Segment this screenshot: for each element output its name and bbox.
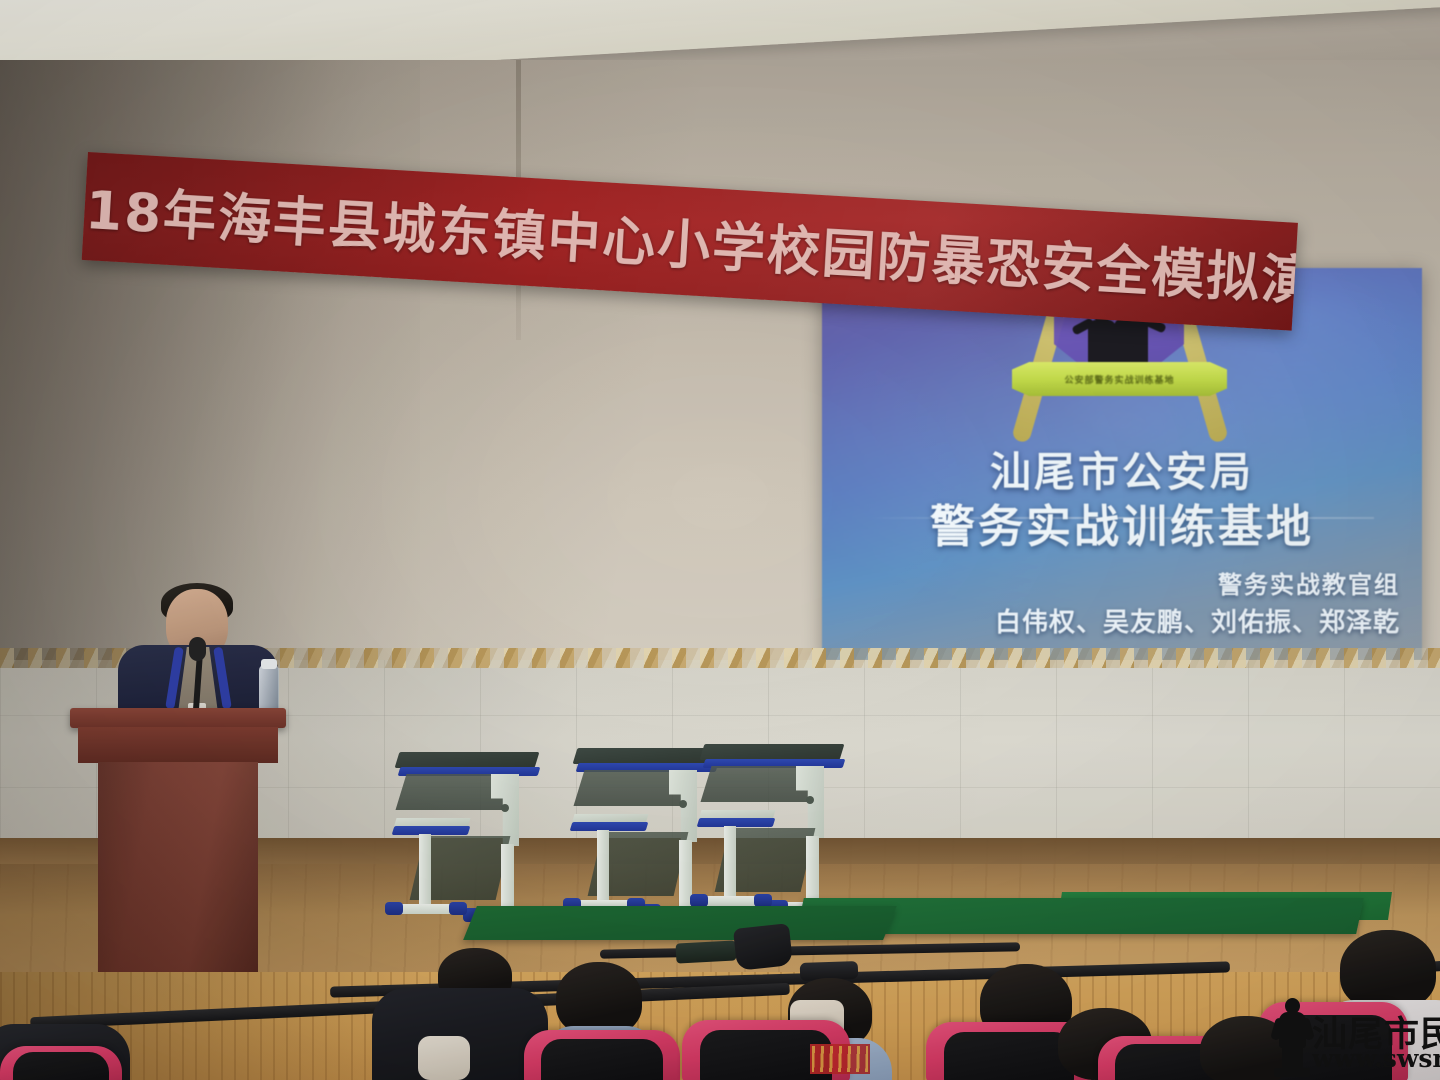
podium-shelf <box>78 727 278 763</box>
desk-knob <box>806 796 814 804</box>
chair-seat-trim <box>392 826 471 835</box>
chair-leg <box>419 834 431 908</box>
desk-top <box>700 744 845 760</box>
seat-cushion <box>541 1039 663 1080</box>
photo-canvas: ★ ★ ★ ★ ★ 公安部警务实战训练基地 汕尾市公安局 警务实战训练基地 警 <box>0 0 1440 1080</box>
site-watermark: 汕尾市民网 www.swsm.net <box>1268 992 1436 1078</box>
slide-subtitle-names: 白伟权、吴友鹏、刘佑振、郑泽乾 <box>995 602 1400 639</box>
slide-title-primary: 汕尾市公安局 <box>822 438 1422 498</box>
equipment-clamp <box>676 940 737 963</box>
chair-leg <box>597 830 609 904</box>
water-bottle-cap <box>261 659 277 669</box>
desk-leg <box>806 836 819 904</box>
training-mat <box>463 906 897 940</box>
microphone-icon <box>189 637 206 661</box>
chair-seat-trim <box>570 822 649 831</box>
watermark-site-url: www.swsm.net <box>1312 1044 1440 1073</box>
chair-foot-cap <box>385 902 403 915</box>
chair-foot-cap <box>449 902 467 915</box>
emblem-ribbon: 公安部警务实战训练基地 <box>1012 362 1227 396</box>
standing-person-silhouette-icon <box>1274 998 1310 1076</box>
chair-leg <box>724 826 736 900</box>
desk-top <box>395 752 540 768</box>
chair-seat-trim <box>697 818 776 827</box>
seat-flag-stripes <box>812 1046 868 1072</box>
tripod-head-icon <box>733 923 793 971</box>
desk-leg <box>501 844 514 912</box>
auditorium-seat <box>524 1030 680 1080</box>
auditorium-seat <box>0 1046 122 1080</box>
projection-screen: ★ ★ ★ ★ ★ 公安部警务实战训练基地 汕尾市公安局 警务实战训练基地 警 <box>822 268 1422 660</box>
podium-body <box>98 762 258 1007</box>
school-desk-set <box>375 752 535 927</box>
emblem-ribbon-text: 公安部警务实战训练基地 <box>1064 373 1174 386</box>
desk-knob <box>501 804 509 812</box>
podium-top <box>70 708 286 728</box>
school-desk-set <box>680 744 840 919</box>
seat-cushion <box>13 1052 108 1080</box>
audience-person-hand <box>418 1036 470 1080</box>
slide-title-secondary: 警务实战训练基地 <box>822 490 1422 555</box>
slide-subtitle-group: 警务实战教官组 <box>1218 565 1400 600</box>
